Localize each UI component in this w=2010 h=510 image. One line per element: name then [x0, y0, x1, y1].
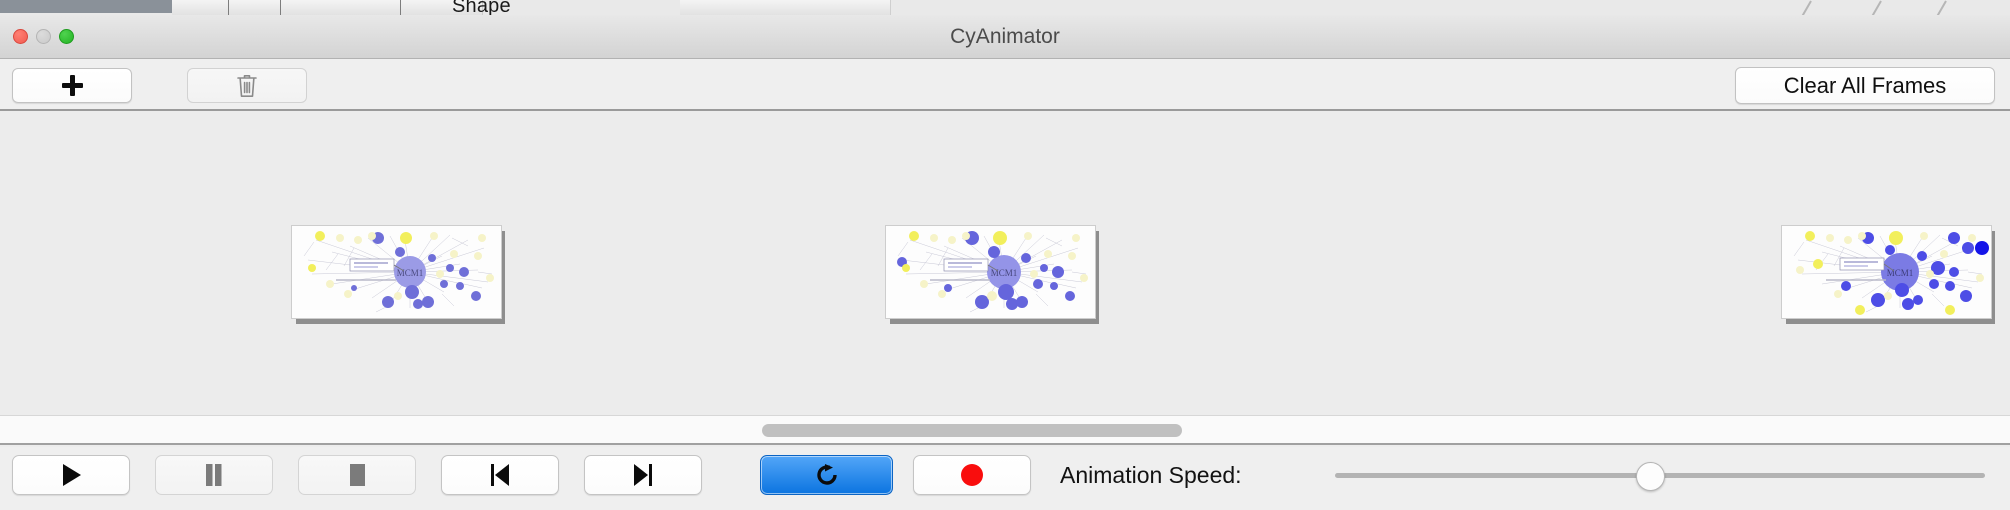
network-thumbnail-svg: MCM1 [292, 226, 501, 318]
frame-thumbnail: MCM1 [291, 225, 502, 319]
timeline-frame[interactable]: MCM1 [1781, 225, 1995, 323]
play-button[interactable] [12, 455, 130, 495]
background-mark [1872, 1, 1882, 17]
skip-to-end-button[interactable] [584, 455, 702, 495]
background-cell [680, 0, 891, 15]
timeline-frame[interactable]: MCM1 [885, 225, 1099, 323]
timeline-panel[interactable]: MCM1 [0, 111, 2010, 415]
scrollbar-thumb[interactable] [762, 424, 1182, 437]
background-divider [400, 0, 401, 15]
background-window-label: Shape [452, 0, 511, 16]
stop-icon [347, 463, 367, 487]
window-title: CyAnimator [0, 15, 2010, 59]
background-mark [1937, 1, 1947, 17]
loop-button[interactable] [760, 455, 893, 495]
record-button[interactable] [913, 455, 1031, 495]
playback-toolbar: Animation Speed: [0, 447, 2010, 510]
skip-start-icon [489, 463, 511, 487]
background-window-titlebar [0, 0, 172, 13]
pause-button[interactable] [155, 455, 273, 495]
background-divider [280, 0, 281, 15]
frame-thumbnail: MCM1 [1781, 225, 1992, 319]
network-thumbnail-svg: MCM1 [886, 226, 1095, 318]
cyanimator-window: Shape CyAnimator Clear All Frames [0, 0, 2010, 510]
record-icon [960, 463, 984, 487]
title-bar: CyAnimator [0, 15, 2010, 59]
add-frame-button[interactable] [12, 68, 132, 103]
background-cell [292, 0, 413, 15]
animation-speed-label: Animation Speed: [1060, 455, 1242, 495]
delete-frame-button[interactable] [187, 68, 307, 103]
svg-text:MCM1: MCM1 [397, 268, 424, 278]
pause-icon [204, 463, 224, 487]
play-icon [60, 463, 82, 487]
frame-thumbnail: MCM1 [885, 225, 1096, 319]
background-divider [228, 0, 229, 15]
timeline-frame[interactable]: MCM1 [291, 225, 505, 323]
skip-end-icon [632, 463, 654, 487]
network-thumbnail-svg: MCM1 [1782, 226, 1991, 318]
skip-to-start-button[interactable] [441, 455, 559, 495]
svg-text:MCM1: MCM1 [991, 268, 1018, 278]
loop-icon [814, 462, 840, 488]
toolbar: Clear All Frames [0, 59, 2010, 111]
clear-all-frames-button[interactable]: Clear All Frames [1735, 67, 1995, 104]
background-mark [1802, 1, 1812, 17]
stop-button[interactable] [298, 455, 416, 495]
animation-speed-slider-thumb[interactable] [1636, 462, 1665, 491]
svg-text:MCM1: MCM1 [1887, 268, 1914, 278]
horizontal-scrollbar[interactable] [0, 415, 2010, 445]
plus-icon [62, 75, 83, 96]
background-cell [172, 0, 293, 15]
background-window-strip: Shape [0, 0, 2010, 16]
trash-icon [236, 73, 258, 98]
